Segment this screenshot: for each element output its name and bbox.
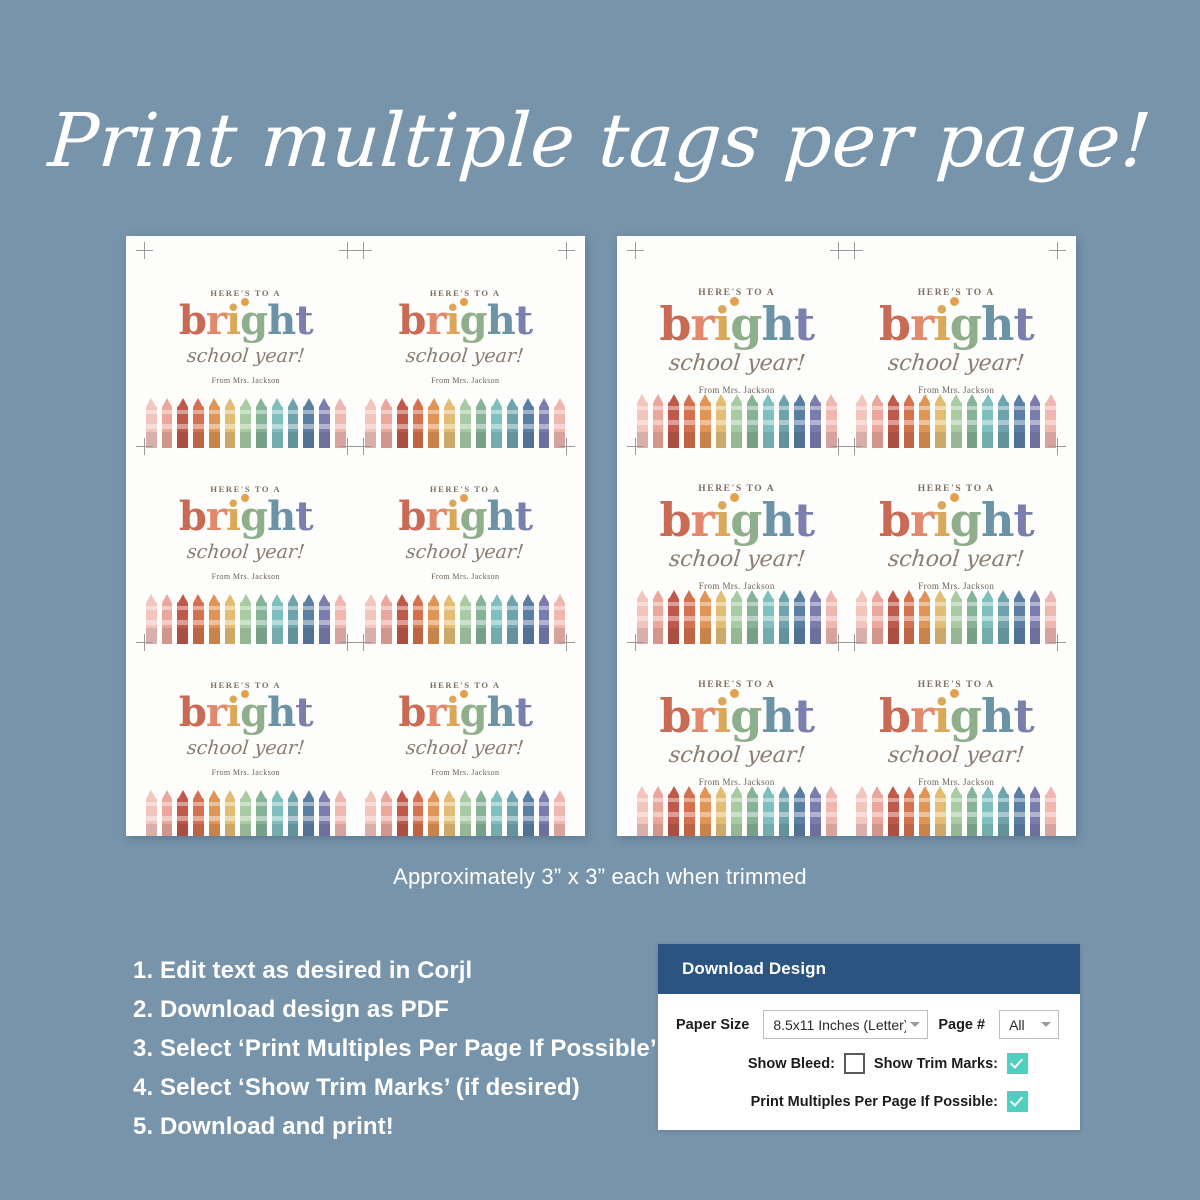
- tag-row: HERE'S TO Abrightschool year!From Mrs. J…: [627, 250, 1066, 446]
- crayon-icon: [208, 790, 221, 836]
- crayon-band: [476, 816, 487, 821]
- crayon-shade: [731, 824, 742, 836]
- crayon-band: [209, 802, 220, 806]
- tag-headline-letter: t: [1013, 689, 1033, 743]
- crayon-icon: [683, 590, 696, 644]
- crayon-icon: [652, 394, 665, 448]
- step-item: 4. Select ‘Show Trim Marks’ (if desired): [133, 1069, 657, 1108]
- tag-script-text: school year!: [186, 737, 306, 759]
- crayon-band: [476, 606, 487, 610]
- crayon-band: [365, 410, 376, 414]
- dot-icon: [950, 689, 959, 698]
- tag-headline-letter: t: [794, 493, 814, 547]
- crayon-shade: [476, 824, 487, 836]
- crayon-band: [177, 606, 188, 610]
- tag-headline-letter: t: [515, 297, 532, 344]
- crayon-band: [684, 406, 695, 410]
- crayon-icon: [553, 594, 566, 644]
- crayon-band: [731, 798, 742, 802]
- crayon-band: [951, 616, 962, 621]
- crayon-band: [653, 616, 664, 621]
- crayon-band: [162, 802, 173, 806]
- crayon-shade: [177, 824, 188, 836]
- crayon-band: [365, 606, 376, 610]
- crayon-band: [225, 802, 236, 806]
- crayon-icon: [287, 790, 300, 836]
- crayon-icon: [475, 790, 488, 836]
- crayon-band: [177, 816, 188, 821]
- crayon-icon: [443, 398, 456, 448]
- tag-headline-letter: h: [981, 493, 1013, 547]
- crayon-shade: [444, 824, 455, 836]
- tag-headline-letter: i: [714, 297, 730, 351]
- crayon-band: [381, 802, 392, 806]
- tag-headline-letter: h: [981, 689, 1013, 743]
- crayon-band: [272, 410, 283, 414]
- crayon-band: [967, 602, 978, 606]
- printable-tag[interactable]: HERE'S TO Abrightschool year!From Mrs. J…: [144, 250, 348, 446]
- paper-size-value: 8.5x11 Inches (Letter): [773, 1017, 906, 1033]
- crayon-icon: [475, 594, 488, 644]
- crayon-icon: [255, 594, 268, 644]
- crayon-band: [826, 616, 837, 621]
- crayon-icon: [318, 398, 331, 448]
- tag-headline-letter: i: [226, 689, 240, 736]
- crayon-band: [637, 602, 648, 606]
- crayon-band: [872, 616, 883, 621]
- crayon-band: [335, 606, 346, 610]
- crayon-band: [700, 812, 711, 817]
- crayon-band: [413, 802, 424, 806]
- crayon-band: [381, 410, 392, 414]
- crayon-band: [177, 620, 188, 625]
- crayon-band: [507, 802, 518, 806]
- crayon-shade: [381, 824, 392, 836]
- crayon-band: [1014, 602, 1025, 606]
- crayon-row: [363, 594, 567, 644]
- crayon-band: [982, 602, 993, 606]
- tag-signature: From Mrs. Jackson: [431, 572, 499, 581]
- crayon-band: [998, 406, 1009, 410]
- crayon-band: [319, 620, 330, 625]
- tag-headline-letter: i: [933, 689, 949, 743]
- crayon-band: [303, 424, 314, 429]
- crayon-band: [365, 620, 376, 625]
- crayon-band: [523, 424, 534, 429]
- dot-icon: [950, 297, 959, 306]
- crayon-band: [554, 424, 565, 429]
- crayon-icon: [1044, 590, 1057, 644]
- tag-headline-letter: r: [425, 689, 445, 736]
- tag-headline-letter: t: [515, 689, 532, 736]
- crayon-band: [193, 410, 204, 414]
- crayon-icon: [871, 394, 884, 448]
- crayon-band: [951, 602, 962, 606]
- crayon-icon: [412, 398, 425, 448]
- tag-grid: HERE'S TO Abrightschool year!From Mrs. J…: [627, 250, 1066, 826]
- crayon-band: [397, 620, 408, 625]
- crayon-band: [794, 602, 805, 606]
- crayon-band: [731, 406, 742, 410]
- paper-size-row: Paper Size 8.5x11 Inches (Letter) Page #…: [676, 1010, 1062, 1039]
- crayon-band: [1045, 406, 1056, 410]
- crayon-band: [240, 816, 251, 821]
- tag-headline: bright: [879, 497, 1034, 543]
- crayon-band: [731, 420, 742, 425]
- crayon-band: [763, 406, 774, 410]
- crayon-icon: [809, 786, 822, 836]
- crayon-band: [998, 812, 1009, 817]
- crayon-shade: [998, 824, 1009, 836]
- crayon-band: [967, 812, 978, 817]
- tag-headline-letter: r: [206, 493, 226, 540]
- crayon-band: [716, 420, 727, 425]
- crayon-band: [668, 602, 679, 606]
- print-multiples-row: Print Multiples Per Page If Possible:: [676, 1091, 1062, 1112]
- crayon-shade: [684, 824, 695, 836]
- crayon-icon: [318, 790, 331, 836]
- tag-headline-letter: h: [761, 689, 793, 743]
- crayon-band: [146, 620, 157, 625]
- crayon-band: [303, 620, 314, 625]
- crayon-icon: [271, 790, 284, 836]
- crayon-icon: [396, 398, 409, 448]
- crayon-band: [668, 616, 679, 621]
- tag-headline-letter: r: [206, 297, 226, 344]
- crayon-band: [428, 816, 439, 821]
- tag-headline-letter: i: [933, 493, 949, 547]
- crayon-icon: [490, 398, 503, 448]
- crayon-band: [193, 606, 204, 610]
- crayon-band: [935, 812, 946, 817]
- printable-tag[interactable]: HERE'S TO Abrightschool year!From Mrs. J…: [363, 642, 567, 836]
- sheet-page-1[interactable]: HERE'S TO Abrightschool year!From Mrs. J…: [126, 236, 585, 836]
- crayon-band: [888, 602, 899, 606]
- crayon-icon: [981, 786, 994, 836]
- printable-tag[interactable]: HERE'S TO Abrightschool year!From Mrs. J…: [144, 642, 348, 836]
- crayon-band: [539, 606, 550, 610]
- crayon-icon: [887, 786, 900, 836]
- crayon-shade: [397, 824, 408, 836]
- crayon-band: [982, 420, 993, 425]
- crayon-icon: [746, 394, 759, 448]
- crayon-band: [904, 812, 915, 817]
- crayon-icon: [762, 590, 775, 644]
- crayon-icon: [459, 790, 472, 836]
- crayon-band: [146, 424, 157, 429]
- crayon-band: [826, 812, 837, 817]
- dot-icon: [241, 494, 249, 502]
- crayon-band: [794, 616, 805, 621]
- crayon-band: [668, 798, 679, 802]
- tag-headline: bright: [398, 301, 532, 341]
- crayon-band: [554, 620, 565, 625]
- crayon-band: [162, 620, 173, 625]
- printable-tag[interactable]: HERE'S TO Abrightschool year!From Mrs. J…: [363, 446, 567, 642]
- trim-mark: [1049, 242, 1066, 259]
- crayon-icon: [981, 590, 994, 644]
- crayon-band: [146, 606, 157, 610]
- crayon-shade: [209, 824, 220, 836]
- print-multiples-checkbox[interactable]: [1007, 1091, 1028, 1112]
- crayon-shade: [826, 824, 837, 836]
- crayon-band: [460, 816, 471, 821]
- tag-headline-letter: b: [659, 297, 690, 351]
- crayon-band: [303, 816, 314, 821]
- crayon-shade: [794, 824, 805, 836]
- crayon-band: [256, 620, 267, 625]
- crayon-band: [716, 812, 727, 817]
- paper-size-select[interactable]: 8.5x11 Inches (Letter): [763, 1010, 928, 1039]
- tag-headline-letter: t: [295, 297, 312, 344]
- crayon-band: [779, 812, 790, 817]
- crayon-band: [668, 420, 679, 425]
- crayon-icon: [762, 394, 775, 448]
- crayon-icon: [161, 594, 174, 644]
- crayon-band: [904, 616, 915, 621]
- preview-sheets: HERE'S TO Abrightschool year!From Mrs. J…: [126, 236, 1076, 836]
- crayon-shade: [653, 824, 664, 836]
- show-bleed-checkbox[interactable]: [844, 1053, 865, 1074]
- crayon-row: [635, 786, 839, 836]
- crayon-band: [731, 602, 742, 606]
- crayon-band: [460, 802, 471, 806]
- printable-tag[interactable]: HERE'S TO Abrightschool year!From Mrs. J…: [144, 446, 348, 642]
- crayon-band: [872, 798, 883, 802]
- crayon-band: [684, 420, 695, 425]
- crayon-icon: [239, 398, 252, 448]
- crayon-icon: [334, 790, 347, 836]
- printable-tag[interactable]: HERE'S TO Abrightschool year!From Mrs. J…: [635, 250, 839, 446]
- crayon-shade: [747, 824, 758, 836]
- instruction-steps: 1. Edit text as desired in Corjl 2. Down…: [133, 952, 657, 1146]
- crayon-band: [240, 620, 251, 625]
- step-item: 2. Download design as PDF: [133, 991, 657, 1030]
- crayon-icon: [427, 594, 440, 644]
- crayon-band: [684, 798, 695, 802]
- tag-headline-letter: b: [179, 493, 206, 540]
- crayon-band: [904, 420, 915, 425]
- crayon-band: [716, 602, 727, 606]
- tag-headline-letter: t: [1013, 493, 1033, 547]
- tag-headline: bright: [398, 497, 532, 537]
- crayon-icon: [475, 398, 488, 448]
- crayon-band: [856, 420, 867, 425]
- crayon-band: [256, 606, 267, 610]
- tag-row: HERE'S TO Abrightschool year!From Mrs. J…: [627, 446, 1066, 642]
- crayon-icon: [667, 786, 680, 836]
- crayon-shade: [810, 824, 821, 836]
- crayon-icon: [825, 394, 838, 448]
- crayon-band: [413, 606, 424, 610]
- crayon-band: [209, 606, 220, 610]
- crayon-icon: [522, 398, 535, 448]
- crayon-band: [428, 424, 439, 429]
- crayon-icon: [825, 590, 838, 644]
- crayon-icon: [966, 786, 979, 836]
- bleed-trim-row: Show Bleed: Show Trim Marks:: [676, 1053, 1062, 1074]
- crayon-icon: [636, 786, 649, 836]
- crayon-icon: [667, 394, 680, 448]
- crayon-shade: [225, 824, 236, 836]
- crayon-band: [716, 798, 727, 802]
- crayon-icon: [176, 594, 189, 644]
- crayon-icon: [1044, 394, 1057, 448]
- crayon-band: [444, 816, 455, 821]
- crayon-band: [428, 410, 439, 414]
- tag-headline-letter: t: [794, 297, 814, 351]
- crayon-band: [319, 424, 330, 429]
- tag-headline-letter: t: [1013, 297, 1033, 351]
- crayon-shade: [335, 824, 346, 836]
- crayon-band: [716, 406, 727, 410]
- crayon-band: [935, 420, 946, 425]
- crayon-band: [856, 406, 867, 410]
- crayon-band: [700, 420, 711, 425]
- page-number-value: All: [1009, 1017, 1025, 1033]
- crayon-icon: [730, 590, 743, 644]
- crayon-icon: [1013, 394, 1026, 448]
- crayon-icon: [855, 394, 868, 448]
- crayon-band: [256, 424, 267, 429]
- tag-signature: From Mrs. Jackson: [212, 768, 280, 777]
- crayon-band: [763, 616, 774, 621]
- crayon-shade: [539, 824, 550, 836]
- show-bleed-label: Show Bleed:: [748, 1056, 835, 1072]
- crayon-band: [967, 798, 978, 802]
- crayon-band: [554, 606, 565, 610]
- crayon-band: [919, 406, 930, 410]
- page-number-select[interactable]: All: [999, 1010, 1059, 1039]
- printable-tag[interactable]: HERE'S TO Abrightschool year!From Mrs. J…: [635, 642, 839, 836]
- tag-headline: bright: [879, 693, 1034, 739]
- crayon-band: [444, 606, 455, 610]
- crayon-icon: [334, 594, 347, 644]
- crayon-icon: [161, 790, 174, 836]
- crayon-band: [319, 802, 330, 806]
- crayon-icon: [380, 790, 393, 836]
- size-caption: Approximately 3” x 3” each when trimmed: [0, 864, 1200, 890]
- crayon-shade: [507, 824, 518, 836]
- tag-headline-letter: r: [910, 297, 933, 351]
- crayon-icon: [287, 594, 300, 644]
- crayon-icon: [1013, 786, 1026, 836]
- crayon-icon: [1029, 394, 1042, 448]
- crayon-icon: [380, 398, 393, 448]
- crayon-icon: [997, 394, 1010, 448]
- tag-script-text: school year!: [887, 351, 1026, 376]
- crayon-band: [684, 616, 695, 621]
- crayon-band: [554, 802, 565, 806]
- crayon-band: [637, 798, 648, 802]
- crayon-band: [700, 602, 711, 606]
- paper-size-label: Paper Size: [676, 1017, 749, 1033]
- page-number-label: Page #: [938, 1017, 985, 1033]
- crayon-band: [397, 424, 408, 429]
- crayon-icon: [255, 398, 268, 448]
- show-trim-marks-checkbox[interactable]: [1007, 1053, 1028, 1074]
- crayon-band: [731, 812, 742, 817]
- sheet-page-2[interactable]: HERE'S TO Abrightschool year!From Mrs. J…: [617, 236, 1076, 836]
- crayon-band: [794, 812, 805, 817]
- crayon-icon: [887, 394, 900, 448]
- crayon-band: [193, 816, 204, 821]
- crayon-band: [554, 816, 565, 821]
- crayon-band: [319, 816, 330, 821]
- tag-headline: bright: [879, 301, 1034, 347]
- crayon-icon: [934, 394, 947, 448]
- crayon-band: [523, 606, 534, 610]
- crayon-band: [1014, 420, 1025, 425]
- crayon-shade: [637, 824, 648, 836]
- crayon-band: [794, 798, 805, 802]
- crayon-band: [982, 798, 993, 802]
- crayon-shade: [856, 824, 867, 836]
- crayon-icon: [903, 590, 916, 644]
- crayon-band: [779, 616, 790, 621]
- crayon-icon: [887, 590, 900, 644]
- crayon-band: [177, 410, 188, 414]
- crayon-shade: [779, 824, 790, 836]
- tag-signature: From Mrs. Jackson: [212, 376, 280, 385]
- tag-headline-letter: b: [879, 297, 910, 351]
- crayon-icon: [699, 786, 712, 836]
- crayon-band: [810, 602, 821, 606]
- crayon-band: [381, 606, 392, 610]
- printable-tag[interactable]: HERE'S TO Abrightschool year!From Mrs. J…: [854, 642, 1058, 836]
- crayon-band: [225, 816, 236, 821]
- crayon-band: [193, 424, 204, 429]
- crayon-band: [700, 616, 711, 621]
- crayon-band: [888, 798, 899, 802]
- crayon-row: [635, 590, 839, 644]
- crayon-band: [668, 406, 679, 410]
- crayon-band: [162, 410, 173, 414]
- printable-tag[interactable]: HERE'S TO Abrightschool year!From Mrs. J…: [363, 250, 567, 446]
- crayon-band: [491, 410, 502, 414]
- crayon-icon: [364, 398, 377, 448]
- crayon-band: [904, 798, 915, 802]
- crayon-band: [888, 420, 899, 425]
- crayon-icon: [636, 590, 649, 644]
- printable-tag[interactable]: HERE'S TO Abrightschool year!From Mrs. J…: [854, 446, 1058, 642]
- crayon-band: [554, 410, 565, 414]
- tag-script-text: school year!: [887, 743, 1026, 768]
- tag-headline-letter: b: [659, 493, 690, 547]
- trim-mark: [830, 242, 847, 259]
- crayon-band: [919, 616, 930, 621]
- crayon-row: [144, 398, 348, 448]
- tag-headline: bright: [659, 301, 814, 347]
- crayon-band: [668, 812, 679, 817]
- crayon-band: [856, 616, 867, 621]
- crayon-band: [763, 420, 774, 425]
- crayon-band: [177, 424, 188, 429]
- crayon-band: [209, 620, 220, 625]
- crayon-icon: [699, 394, 712, 448]
- tag-headline-letter: i: [714, 493, 730, 547]
- printable-tag[interactable]: HERE'S TO Abrightschool year!From Mrs. J…: [635, 446, 839, 642]
- crayon-icon: [239, 790, 252, 836]
- crayon-band: [319, 410, 330, 414]
- crayon-shade: [668, 824, 679, 836]
- crayon-band: [444, 410, 455, 414]
- tag-headline: bright: [179, 497, 313, 537]
- crayon-icon: [746, 590, 759, 644]
- crayon-band: [1045, 616, 1056, 621]
- crayon-icon: [762, 786, 775, 836]
- printable-tag[interactable]: HERE'S TO Abrightschool year!From Mrs. J…: [854, 250, 1058, 446]
